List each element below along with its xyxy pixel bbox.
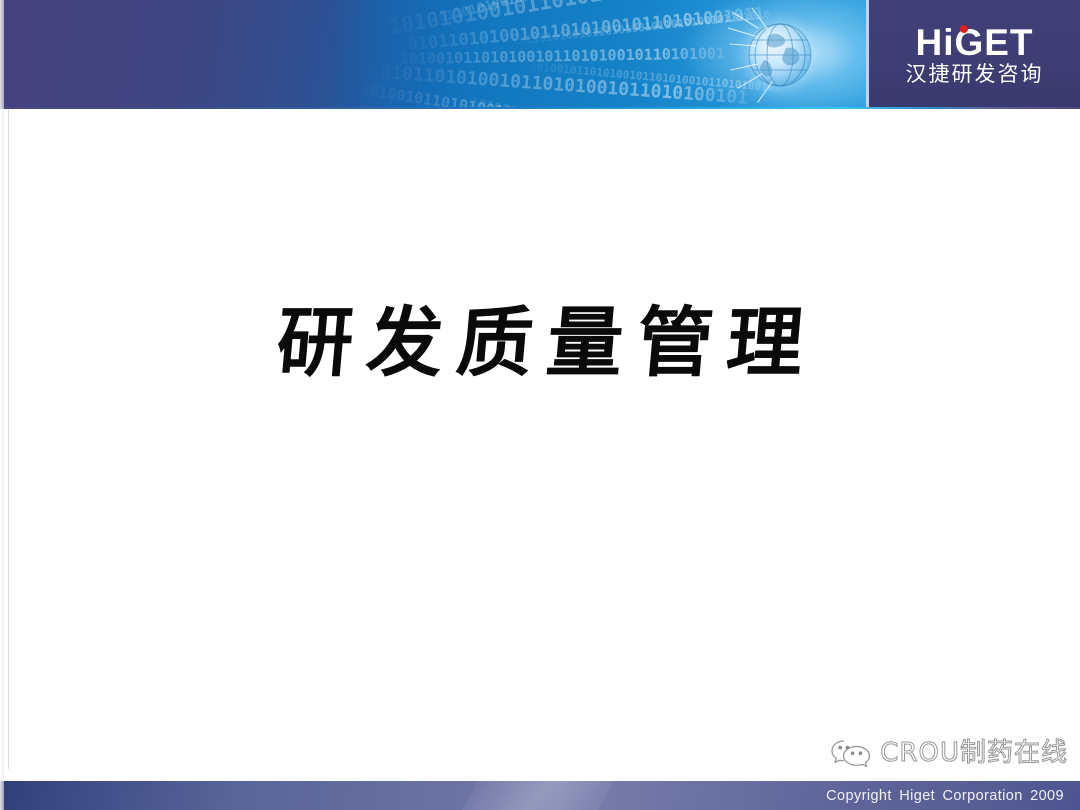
slide-footer-bar: Copyright Higet Corporation 2009: [0, 781, 1080, 810]
page-title: 研发质量管理: [0, 305, 1080, 381]
slide-header-banner: 10101010010110101001011010100101 0101101…: [0, 0, 1080, 109]
logo-brand-label: HiGET: [915, 22, 1033, 63]
wechat-icon: [831, 738, 871, 768]
copyright-text: Copyright Higet Corporation 2009: [826, 788, 1064, 804]
header-globe-graphic: 10101010010110101001011010100101 0101101…: [330, 0, 868, 109]
crou-watermark: CROU制药在线: [831, 738, 1068, 768]
page-edge-seam: [8, 109, 9, 769]
watermark-label: CROU制药在线: [880, 740, 1068, 766]
presentation-slide: 10101010010110101001011010100101 0101101…: [0, 0, 1080, 810]
globe-icon: [728, 6, 832, 104]
logo-brand-text: HiGET: [915, 24, 1033, 61]
slide-content-area: 研发质量管理: [0, 109, 1080, 781]
page-left-edge: [0, 0, 4, 810]
logo-subtitle: 汉捷研发咨询: [906, 64, 1044, 85]
higet-logo: HiGET 汉捷研发咨询: [866, 0, 1080, 109]
